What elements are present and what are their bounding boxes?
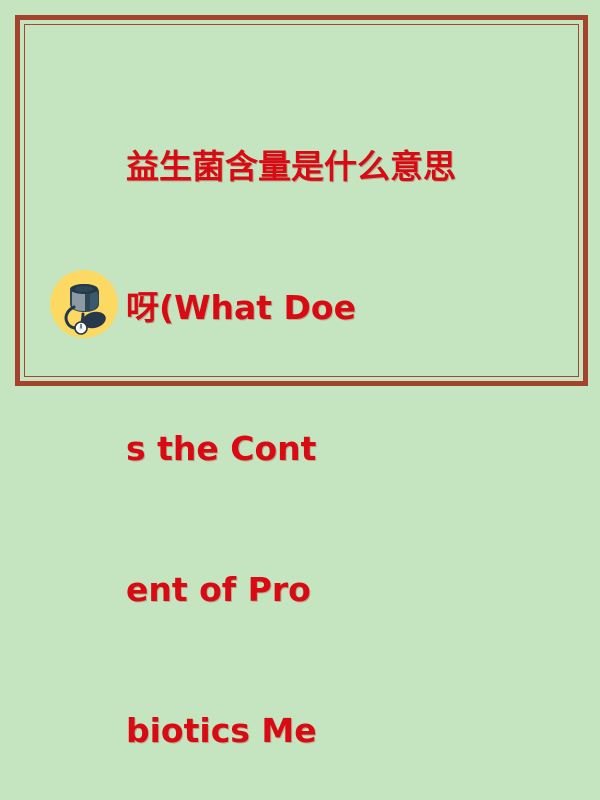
title-line-3: s the Cont (126, 425, 506, 472)
poster-canvas: 益生菌含量是什么意思 呀(What Doe s the Cont ent of … (0, 0, 600, 400)
title-line-5: biotics Me (126, 707, 506, 754)
title-line-1: 益生菌含量是什么意思 (126, 143, 506, 190)
page-title: 益生菌含量是什么意思 呀(What Doe s the Cont ent of … (126, 49, 506, 800)
title-line-4: ent of Pro (126, 566, 506, 613)
title-line-2: 呀(What Doe (126, 284, 506, 331)
blood-pressure-monitor-icon (50, 270, 118, 338)
